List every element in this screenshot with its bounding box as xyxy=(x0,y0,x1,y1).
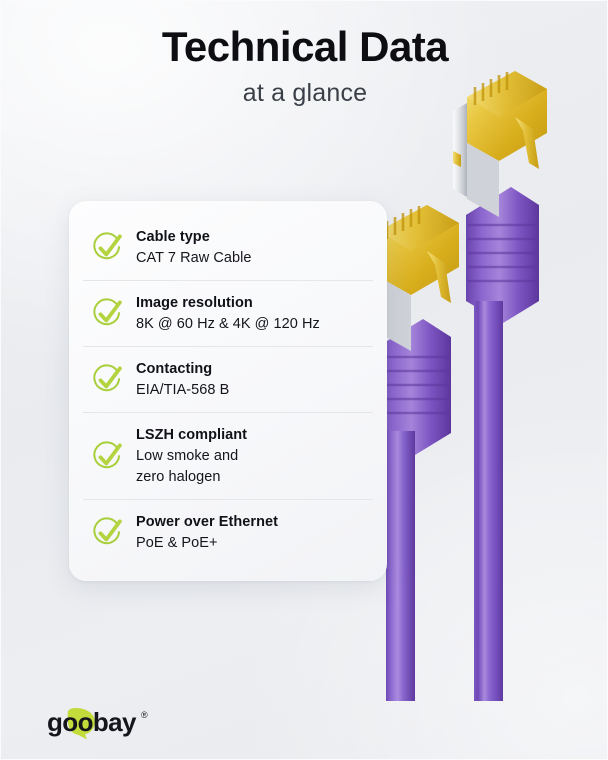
spec-title: LSZH compliant xyxy=(136,425,247,446)
spec-row-cable-type: Cable type CAT 7 Raw Cable xyxy=(69,215,387,280)
spec-value: EIA/TIA-568 B xyxy=(136,380,229,401)
spec-value: CAT 7 Raw Cable xyxy=(136,248,251,269)
check-circle-icon xyxy=(91,231,124,264)
check-circle-icon xyxy=(91,440,124,473)
spec-title: Power over Ethernet xyxy=(136,512,278,533)
spec-row-image-resolution: Image resolution 8K @ 60 Hz & 4K @ 120 H… xyxy=(69,281,387,346)
check-circle-icon xyxy=(91,297,124,330)
check-circle-icon xyxy=(91,363,124,396)
goobay-logo-mark: goobay ® xyxy=(45,704,165,740)
header: Technical Data at a glance xyxy=(1,23,608,108)
page-title: Technical Data xyxy=(1,23,608,70)
check-circle-icon xyxy=(91,516,124,549)
spec-text: Image resolution 8K @ 60 Hz & 4K @ 120 H… xyxy=(136,293,320,334)
spec-title: Cable type xyxy=(136,227,251,248)
goobay-wordmark: goobay xyxy=(47,707,137,737)
specifications-card: Cable type CAT 7 Raw Cable Image resolut… xyxy=(69,201,387,581)
spec-value: PoE & PoE+ xyxy=(136,533,278,554)
spec-text: LSZH compliant Low smoke and zero haloge… xyxy=(136,425,247,487)
spec-text: Power over Ethernet PoE & PoE+ xyxy=(136,512,278,553)
connector-boot-right xyxy=(466,187,539,325)
spec-value: 8K @ 60 Hz & 4K @ 120 Hz xyxy=(136,314,320,335)
spec-title: Image resolution xyxy=(136,293,320,314)
technical-data-poster: Technical Data at a glance Cable type CA… xyxy=(0,0,608,760)
spec-row-lszh-compliant: LSZH compliant Low smoke and zero haloge… xyxy=(69,413,387,499)
registered-trademark-symbol: ® xyxy=(141,710,148,720)
spec-row-contacting: Contacting EIA/TIA-568 B xyxy=(69,347,387,412)
spec-text: Contacting EIA/TIA-568 B xyxy=(136,359,229,400)
spec-text: Cable type CAT 7 Raw Cable xyxy=(136,227,251,268)
connector-boot-left xyxy=(377,319,451,455)
spec-title: Contacting xyxy=(136,359,229,380)
goobay-logo: goobay ® xyxy=(45,704,165,740)
page-subtitle: at a glance xyxy=(1,78,608,108)
spec-value-line2: zero halogen xyxy=(136,467,247,488)
spec-value: Low smoke and xyxy=(136,446,247,467)
spec-row-power-over-ethernet: Power over Ethernet PoE & PoE+ xyxy=(69,500,387,565)
